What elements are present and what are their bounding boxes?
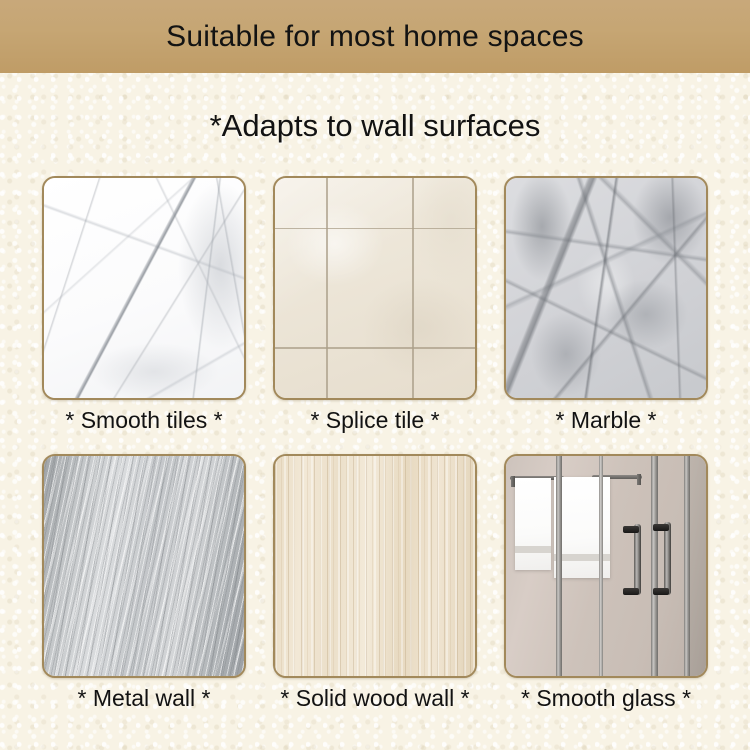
glass-shower-door-swatch[interactable] [504, 454, 708, 678]
door-handle [634, 524, 641, 594]
glass-door-frame [556, 456, 562, 676]
grout-line-horizontal [275, 228, 475, 230]
surface-caption-smooth-tiles: * Smooth tiles * [42, 407, 246, 434]
grout-line-vertical [412, 178, 414, 398]
wood-grain-texture [275, 456, 475, 676]
towel-stripe [515, 546, 551, 553]
grout-line-horizontal [275, 347, 475, 349]
surface-grid: * Smooth tiles * * Splice tile * * Marbl… [42, 176, 708, 712]
surface-card-smooth-tiles[interactable]: * Smooth tiles * [42, 176, 246, 434]
door-handle-mount [623, 526, 639, 533]
glass-door-frame [599, 456, 603, 676]
surface-caption-splice-tile: * Splice tile * [273, 407, 477, 434]
surface-caption-marble: * Marble * [504, 407, 708, 434]
surface-caption-metal-wall: * Metal wall * [42, 685, 246, 712]
brushed-metal-texture [44, 456, 244, 676]
grey-marble-texture [506, 178, 706, 398]
white-marble-tile-swatch[interactable] [42, 176, 246, 400]
door-handle [664, 522, 671, 595]
surface-card-marble[interactable]: * Marble * [504, 176, 708, 434]
infographic-page: Suitable for most home spaces *Adapts to… [0, 0, 750, 750]
door-handle-mount [653, 588, 669, 595]
surface-card-splice-tile[interactable]: * Splice tile * [273, 176, 477, 434]
tile-grid-texture [275, 178, 475, 398]
white-towel [515, 478, 551, 570]
subtitle: *Adapts to wall surfaces [0, 108, 750, 144]
header-band: Suitable for most home spaces [0, 0, 750, 73]
door-handle-mount [623, 588, 639, 595]
surface-caption-smooth-glass: * Smooth glass * [504, 685, 708, 712]
brushed-metal-swatch[interactable] [42, 454, 246, 678]
light-wood-grain-swatch[interactable] [273, 454, 477, 678]
beige-grid-tile-swatch[interactable] [273, 176, 477, 400]
surface-card-metal-wall[interactable]: * Metal wall * [42, 454, 246, 712]
glass-door-frame [651, 456, 658, 676]
grey-marble-swatch[interactable] [504, 176, 708, 400]
surface-card-smooth-glass[interactable]: * Smooth glass * [504, 454, 708, 712]
glass-door-frame [684, 456, 690, 676]
surface-card-solid-wood-wall[interactable]: * Solid wood wall * [273, 454, 477, 712]
marble-vein-texture [44, 178, 244, 398]
glass-shower-scene [506, 456, 706, 676]
towel-rail-post [637, 474, 641, 485]
page-title: Suitable for most home spaces [166, 20, 584, 54]
door-handle-mount [653, 524, 669, 531]
surface-caption-solid-wood-wall: * Solid wood wall * [273, 685, 477, 712]
grout-line-vertical [326, 178, 328, 398]
